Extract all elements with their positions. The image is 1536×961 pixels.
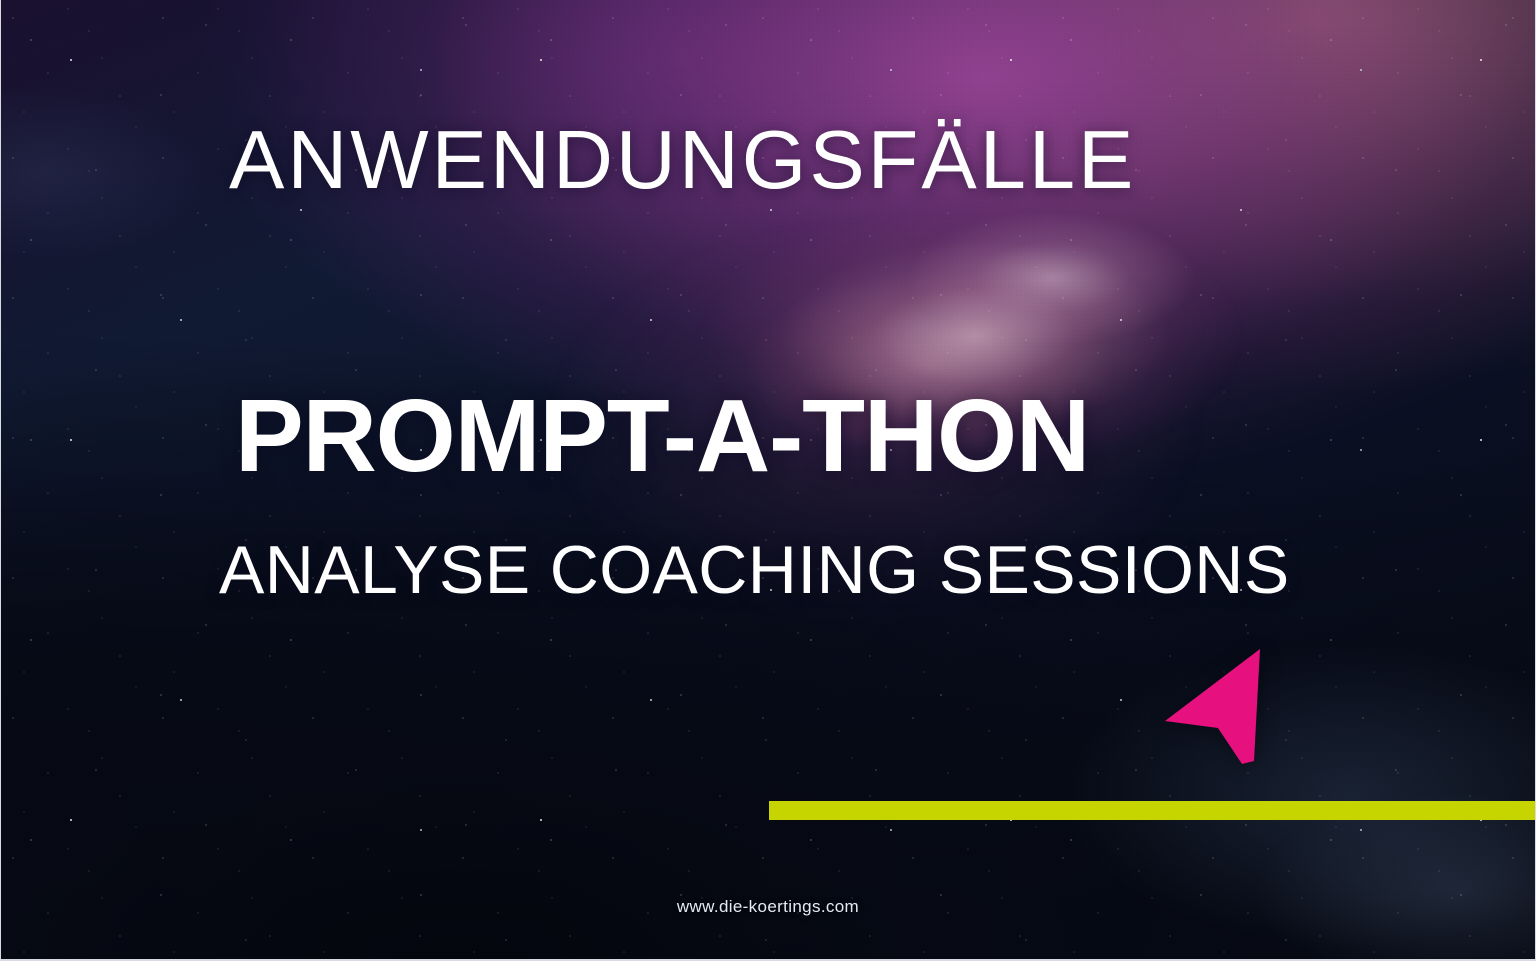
slide-subtitle: ANALYSE COACHING SESSIONS bbox=[219, 536, 1329, 604]
slide-title: PROMPT-A-THON bbox=[235, 384, 1335, 487]
cursor-arrow-shape bbox=[1165, 649, 1260, 764]
cursor-arrow-icon bbox=[1159, 640, 1271, 770]
slide-eyebrow-heading: ANWENDUNGSFÄLLE bbox=[229, 118, 1329, 201]
presentation-slide: ANWENDUNGSFÄLLE PROMPT-A-THON ANALYSE CO… bbox=[0, 0, 1536, 961]
accent-bar bbox=[769, 801, 1536, 820]
footer-website-url: www.die-koertings.com bbox=[1, 897, 1535, 917]
